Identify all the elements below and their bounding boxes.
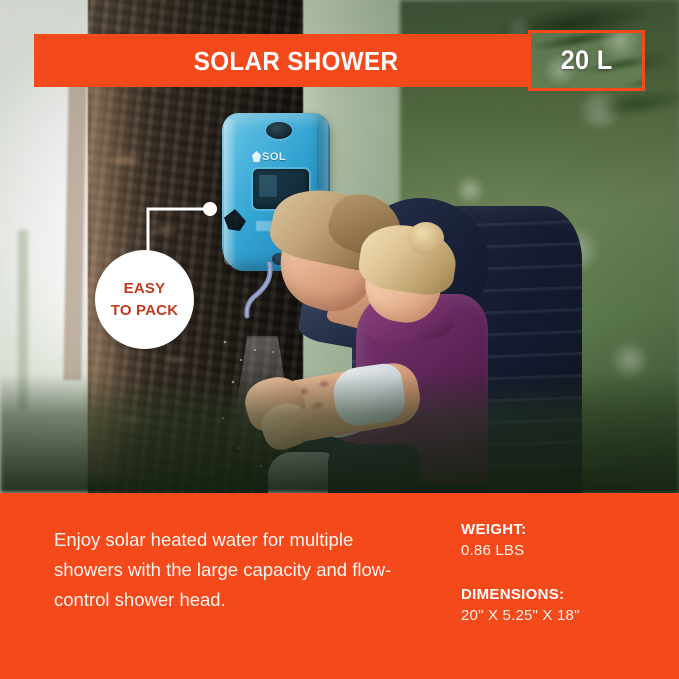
bag-fill-cap	[266, 122, 292, 139]
forest-floor	[0, 373, 679, 493]
sol-logo-mark-icon	[252, 151, 261, 162]
product-infographic: SOL	[0, 0, 679, 679]
bag-seam-left	[224, 119, 235, 265]
spec-value-dimensions: 20" X 5.25" X 18"	[461, 605, 661, 626]
child-hair-bun	[408, 222, 444, 254]
specs-list: WEIGHT: 0.86 LBS DIMENSIONS: 20" X 5.25"…	[461, 519, 661, 626]
callout-line-2: TO PACK	[111, 300, 179, 321]
spec-value-weight: 0.86 LBS	[461, 540, 661, 561]
callout-line-1: EASY	[124, 278, 166, 299]
shower-hose	[243, 262, 283, 320]
spec-label-dimensions: DIMENSIONS:	[461, 584, 661, 605]
bottom-info-panel: Enjoy solar heated water for multiple sh…	[0, 493, 679, 679]
product-description: Enjoy solar heated water for multiple sh…	[54, 525, 424, 615]
spec-label-weight: WEIGHT:	[461, 519, 661, 540]
spec-spacer	[461, 562, 661, 584]
sol-brand-label: SOL	[262, 151, 286, 163]
easy-to-pack-callout: EASY TO PACK	[95, 250, 194, 349]
capacity-value: 20 L	[561, 45, 613, 76]
page-title: SOLAR SHOWER	[194, 48, 399, 74]
capacity-badge: 20 L	[528, 30, 645, 91]
